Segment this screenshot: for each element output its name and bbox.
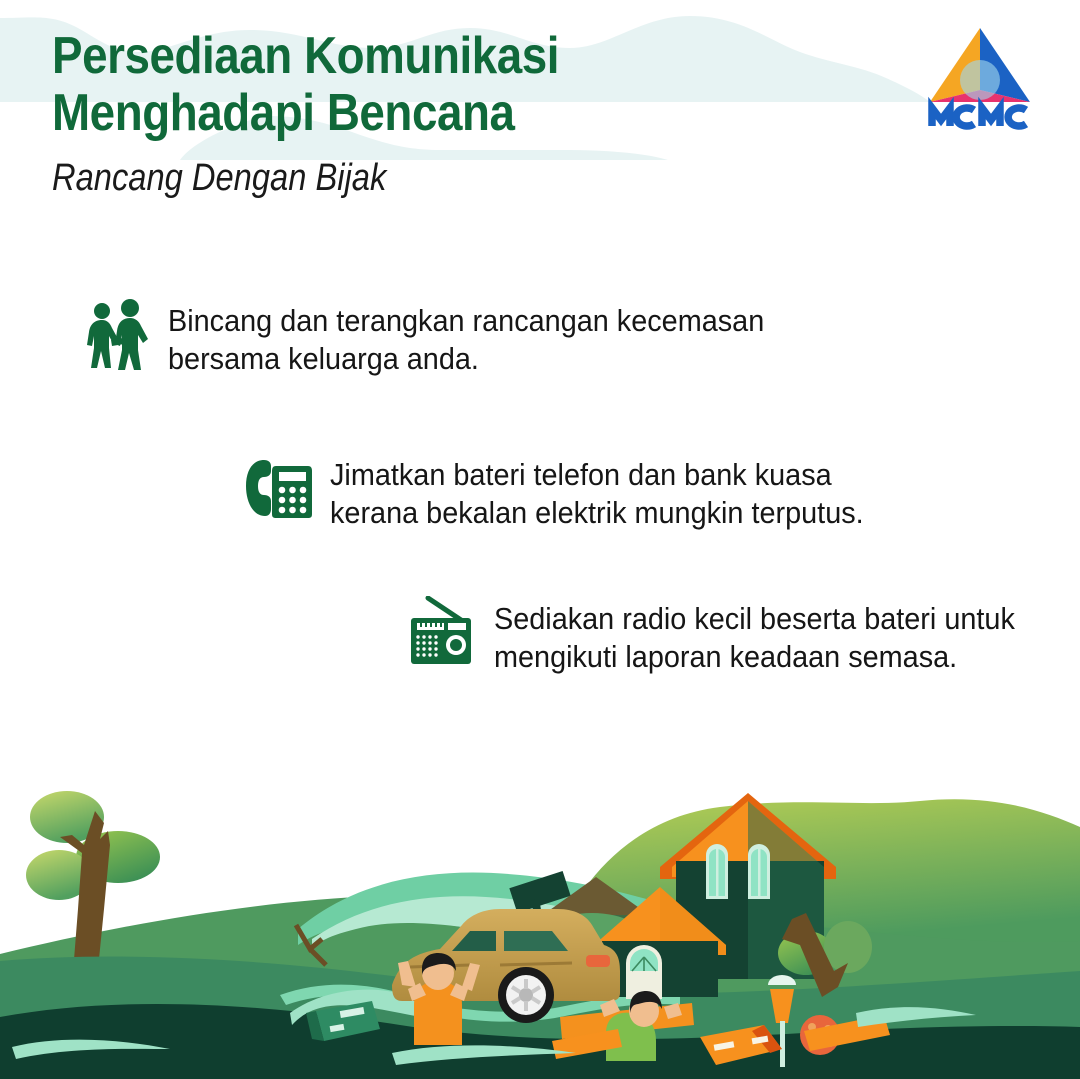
two-people-holding-hands-icon	[80, 298, 154, 372]
desk-telephone-icon	[242, 452, 316, 526]
page-subtitle: Rancang Dengan Bijak	[52, 156, 548, 200]
page-title-line-1: Persediaan Komunikasi	[52, 28, 559, 85]
bullet-text: Bincang dan terangkan rancangan kecemasa…	[168, 298, 764, 378]
bullet-text: Sediakan radio kecil beserta bateri untu…	[494, 596, 1015, 676]
mcmc-logo	[920, 22, 1040, 134]
bullet-text: Jimatkan bateri telefon dan bank kuasa k…	[330, 452, 864, 532]
logo-center-circle	[960, 60, 1000, 100]
bullet-item-phone-battery: Jimatkan bateri telefon dan bank kuasa k…	[242, 452, 904, 532]
poster-canvas: Persediaan Komunikasi Menghadapi Bencana…	[0, 0, 1080, 1079]
logo-wordmark	[932, 108, 1026, 126]
bullet-item-family-plan: Bincang dan terangkan rancangan kecemasa…	[80, 298, 809, 378]
title-block: Persediaan Komunikasi Menghadapi Bencana…	[52, 28, 628, 200]
bullet-item-radio: Sediakan radio kecil beserta bateri untu…	[406, 596, 1054, 676]
portable-radio-icon	[406, 596, 480, 670]
page-title-line-2: Menghadapi Bencana	[52, 85, 559, 142]
flood-illustration	[0, 749, 1080, 1079]
